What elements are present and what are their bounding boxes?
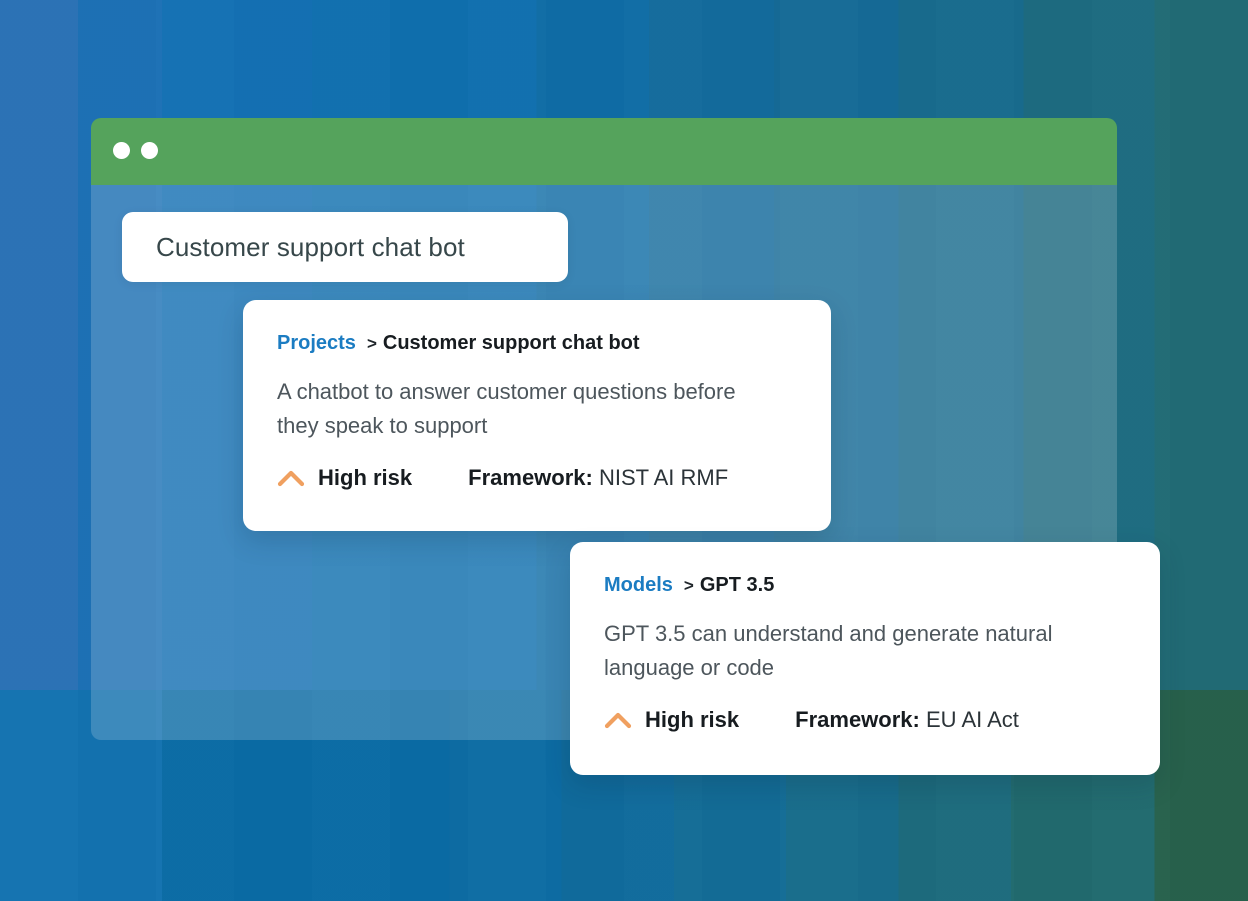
breadcrumb-current-model: GPT 3.5 <box>700 574 774 597</box>
risk-indicator: High risk <box>277 465 412 491</box>
window-dot-1[interactable] <box>113 142 130 159</box>
breadcrumb-current-project: Customer support chat bot <box>383 332 640 355</box>
framework-label: Framework: <box>468 465 593 490</box>
window-dot-2[interactable] <box>141 142 158 159</box>
search-input-value: Customer support chat bot <box>156 232 465 263</box>
breadcrumb-separator-icon: > <box>367 334 377 354</box>
breadcrumb: Models > GPT 3.5 <box>604 574 1126 597</box>
breadcrumb-separator-icon: > <box>684 576 694 596</box>
chevron-up-icon <box>604 711 632 729</box>
screenshot-root: Customer support chat bot Projects > Cus… <box>0 0 1248 901</box>
window-title-bar <box>91 118 1117 185</box>
risk-level-label: High risk <box>318 465 412 491</box>
project-info-card[interactable]: Projects > Customer support chat bot A c… <box>243 300 831 531</box>
search-input[interactable]: Customer support chat bot <box>122 212 568 282</box>
chevron-up-icon <box>277 469 305 487</box>
project-meta-row: High risk Framework: NIST AI RMF <box>277 465 797 491</box>
project-description: A chatbot to answer customer questions b… <box>277 375 777 443</box>
risk-indicator: High risk <box>604 707 739 733</box>
breadcrumb-link-models[interactable]: Models <box>604 574 673 597</box>
framework-value: EU AI Act <box>926 707 1019 732</box>
breadcrumb: Projects > Customer support chat bot <box>277 332 797 355</box>
breadcrumb-link-projects[interactable]: Projects <box>277 332 356 355</box>
model-description: GPT 3.5 can understand and generate natu… <box>604 617 1104 685</box>
framework-label: Framework: <box>795 707 920 732</box>
risk-level-label: High risk <box>645 707 739 733</box>
framework-info: Framework: NIST AI RMF <box>468 465 728 491</box>
framework-value: NIST AI RMF <box>599 465 728 490</box>
framework-info: Framework: EU AI Act <box>795 707 1019 733</box>
model-info-card[interactable]: Models > GPT 3.5 GPT 3.5 can understand … <box>570 542 1160 775</box>
model-meta-row: High risk Framework: EU AI Act <box>604 707 1126 733</box>
